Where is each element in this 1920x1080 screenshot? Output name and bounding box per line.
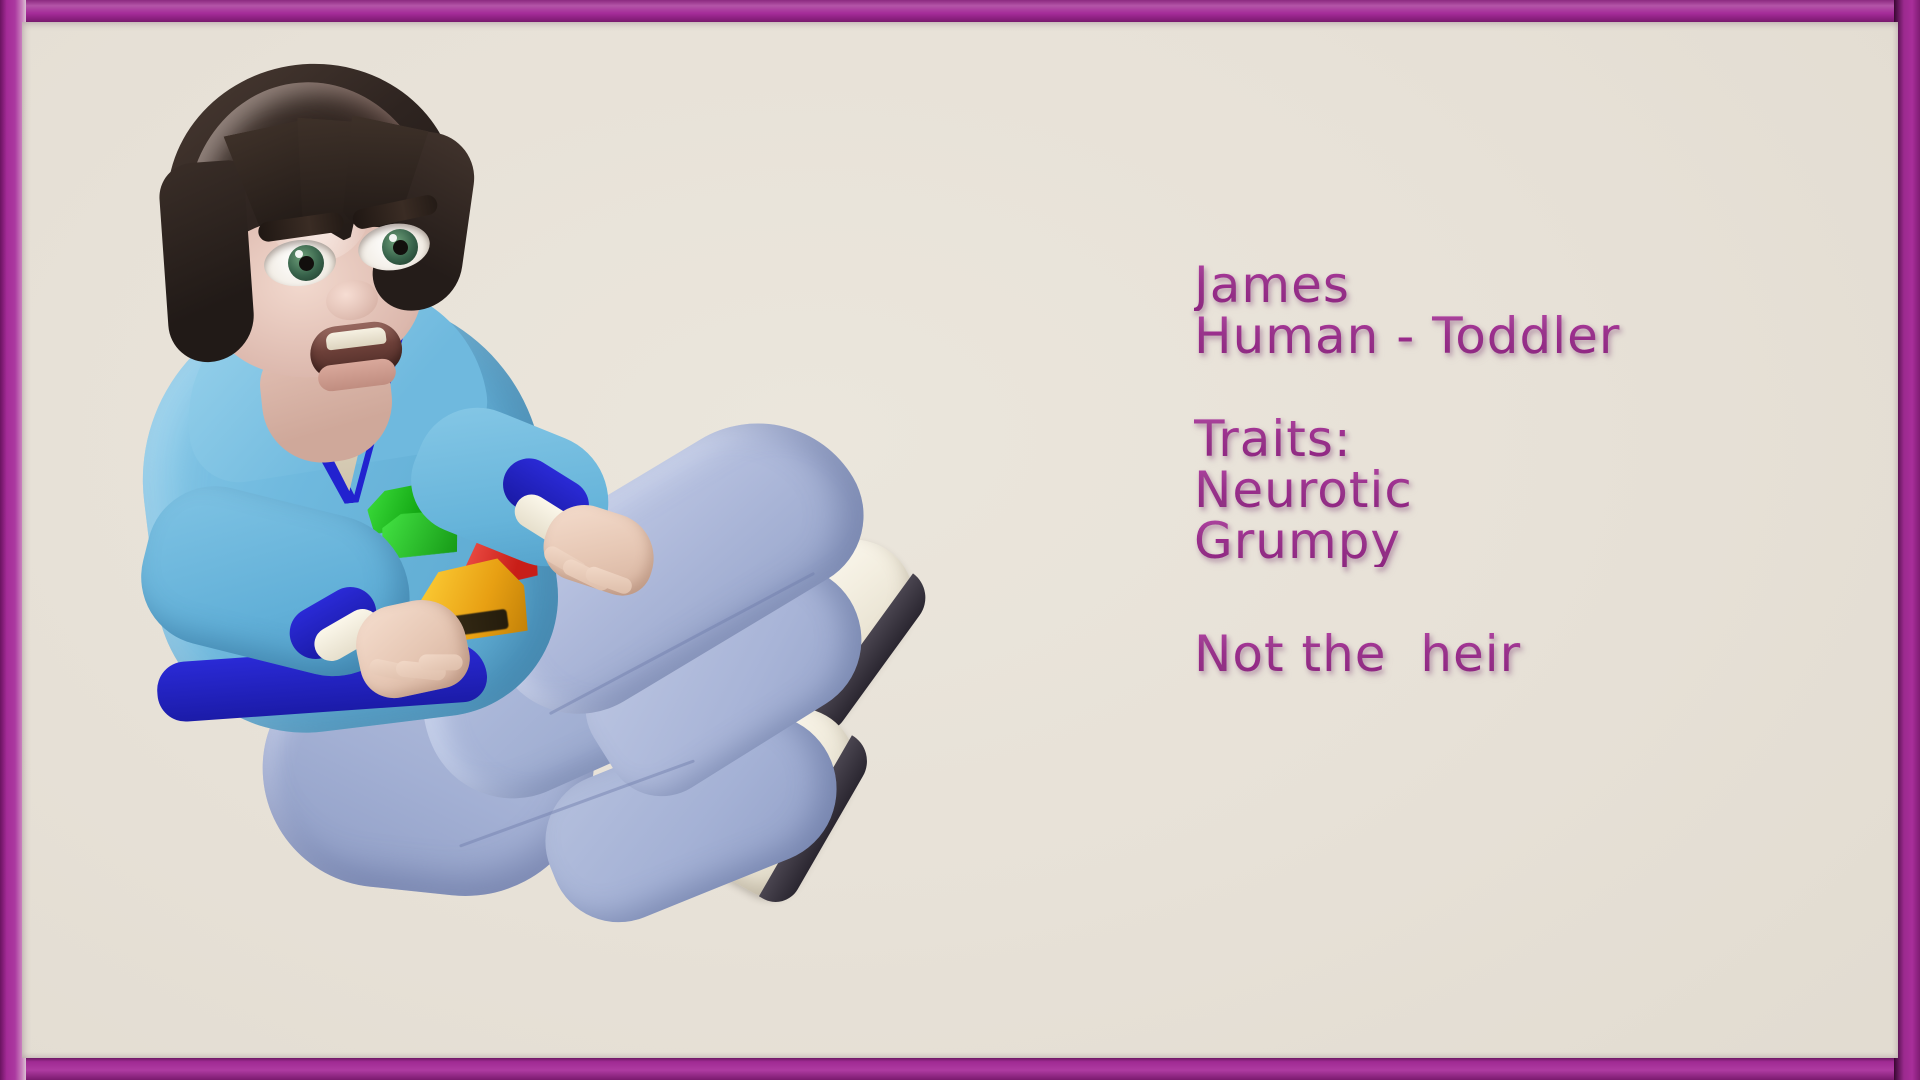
eye-highlight-left [295,250,303,258]
eye-highlight-right [389,234,397,242]
spacer [1194,362,1834,414]
sim-species-age: Human - Toddler [1194,311,1834,362]
trait-item-1: Neurotic [1194,465,1834,516]
spacer [1194,567,1834,629]
pupil-right [393,240,408,255]
sim-name: James [1194,260,1834,311]
hair-side-left [157,159,257,365]
heir-status: Not the heir [1194,629,1834,680]
trait-item-2: Grumpy [1194,516,1834,567]
traits-heading: Traits: [1194,414,1834,465]
character-info-panel: James Human - Toddler Traits: Neurotic G… [1194,260,1834,680]
sim-portrait-image [112,42,872,1042]
card-canvas: James Human - Toddler Traits: Neurotic G… [22,22,1898,1058]
pupil-left [299,256,314,271]
character-card: James Human - Toddler Traits: Neurotic G… [0,0,1920,1080]
